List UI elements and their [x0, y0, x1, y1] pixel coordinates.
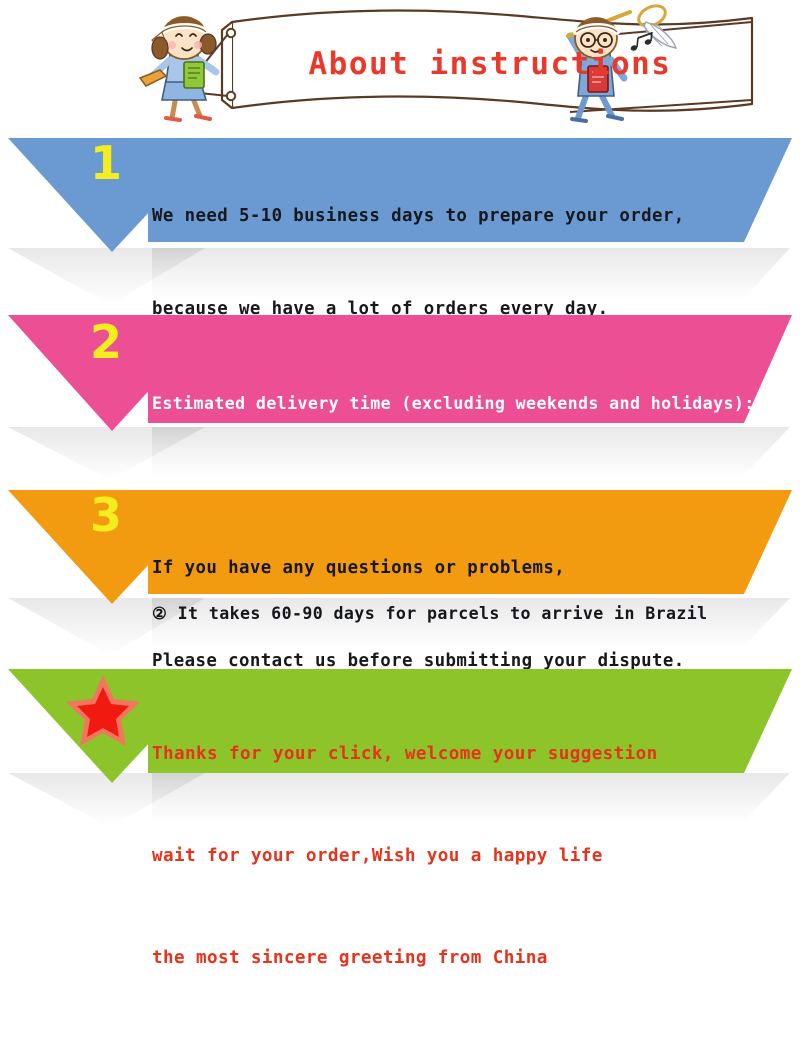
girl-character-icon [140, 17, 216, 120]
header-banner: About instructions [0, 0, 800, 130]
section-line: wait for your order,Wish you a happy lif… [152, 839, 772, 873]
section-line: If you have any questions or problems, [152, 553, 772, 584]
banner-title: About instructions [309, 46, 672, 82]
instruction-section-1: 1 We need 5-10 business days to prepare … [0, 130, 800, 305]
instruction-section-3: 3 If you have any questions or problems,… [0, 480, 800, 655]
section-line: the most sincere greeting from China [152, 941, 772, 975]
section-line: We need 5-10 business days to prepare yo… [152, 201, 772, 232]
section-line: Thanks for your click, welcome your sugg… [152, 737, 772, 771]
instruction-section-4: Thanks for your click, welcome your sugg… [0, 655, 800, 830]
section-text-4: Thanks for your click, welcome your sugg… [152, 669, 772, 1043]
section-line: Estimated delivery time (excluding weeke… [152, 386, 772, 421]
instruction-section-2: 2 Estimated delivery time (excluding wee… [0, 305, 800, 480]
